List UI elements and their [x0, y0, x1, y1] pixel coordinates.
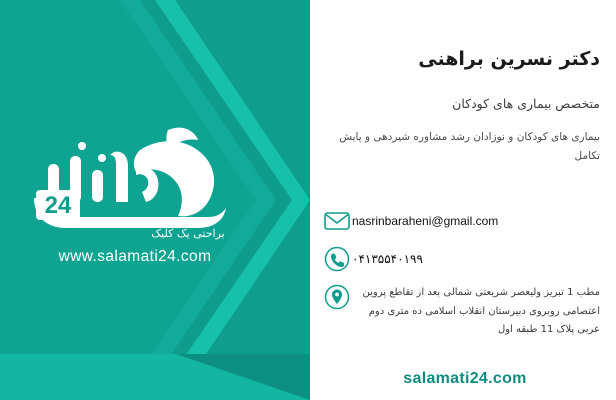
- salamati-logo-mark: 24: [18, 112, 250, 242]
- doctor-specialty: متخصص بیماری های کودکان: [316, 96, 600, 111]
- address-text[interactable]: مطب 1 تبریز ولیعصر شریعتی شمالی بعد از ت…: [352, 282, 600, 340]
- contact-row-phone[interactable]: ۰۴۱۳۵۵۴۰۱۹۹: [316, 244, 600, 274]
- contact-row-address[interactable]: مطب 1 تبریز ولیعصر شریعتی شمالی بعد از ت…: [316, 282, 600, 340]
- contact-row-email[interactable]: nasrinbaraheni@gmail.com: [316, 206, 600, 236]
- card-content: دکتر نسرین براهنی متخصص بیماری های کودکا…: [300, 0, 616, 400]
- email-text[interactable]: nasrinbaraheni@gmail.com: [352, 206, 600, 233]
- location-pin-icon: [322, 282, 352, 312]
- logo-badge-24: 24: [36, 190, 80, 220]
- logo: 24: [18, 112, 250, 242]
- logo-website[interactable]: www.salamati24.com: [20, 248, 250, 266]
- logo-tagline: براحتی یک کلیک: [128, 227, 248, 240]
- footer-website[interactable]: salamati24.com: [330, 370, 600, 388]
- envelope-icon: [322, 206, 352, 236]
- phone-text[interactable]: ۰۴۱۳۵۵۴۰۱۹۹: [352, 244, 600, 271]
- brand-panel: 24 براحتی یک کلیک www.salamati24.com: [0, 0, 310, 400]
- doctor-description: بیماری های کودکان و نوزادان رشد مشاوره ش…: [316, 128, 600, 167]
- phone-icon: [322, 244, 352, 274]
- svg-text:24: 24: [45, 192, 72, 219]
- business-card: 24 براحتی یک کلیک www.salamati24.com دکت…: [0, 0, 616, 400]
- card-footer: salamati24.com: [0, 354, 616, 400]
- doctor-name: دکتر نسرین براهنی: [316, 48, 600, 70]
